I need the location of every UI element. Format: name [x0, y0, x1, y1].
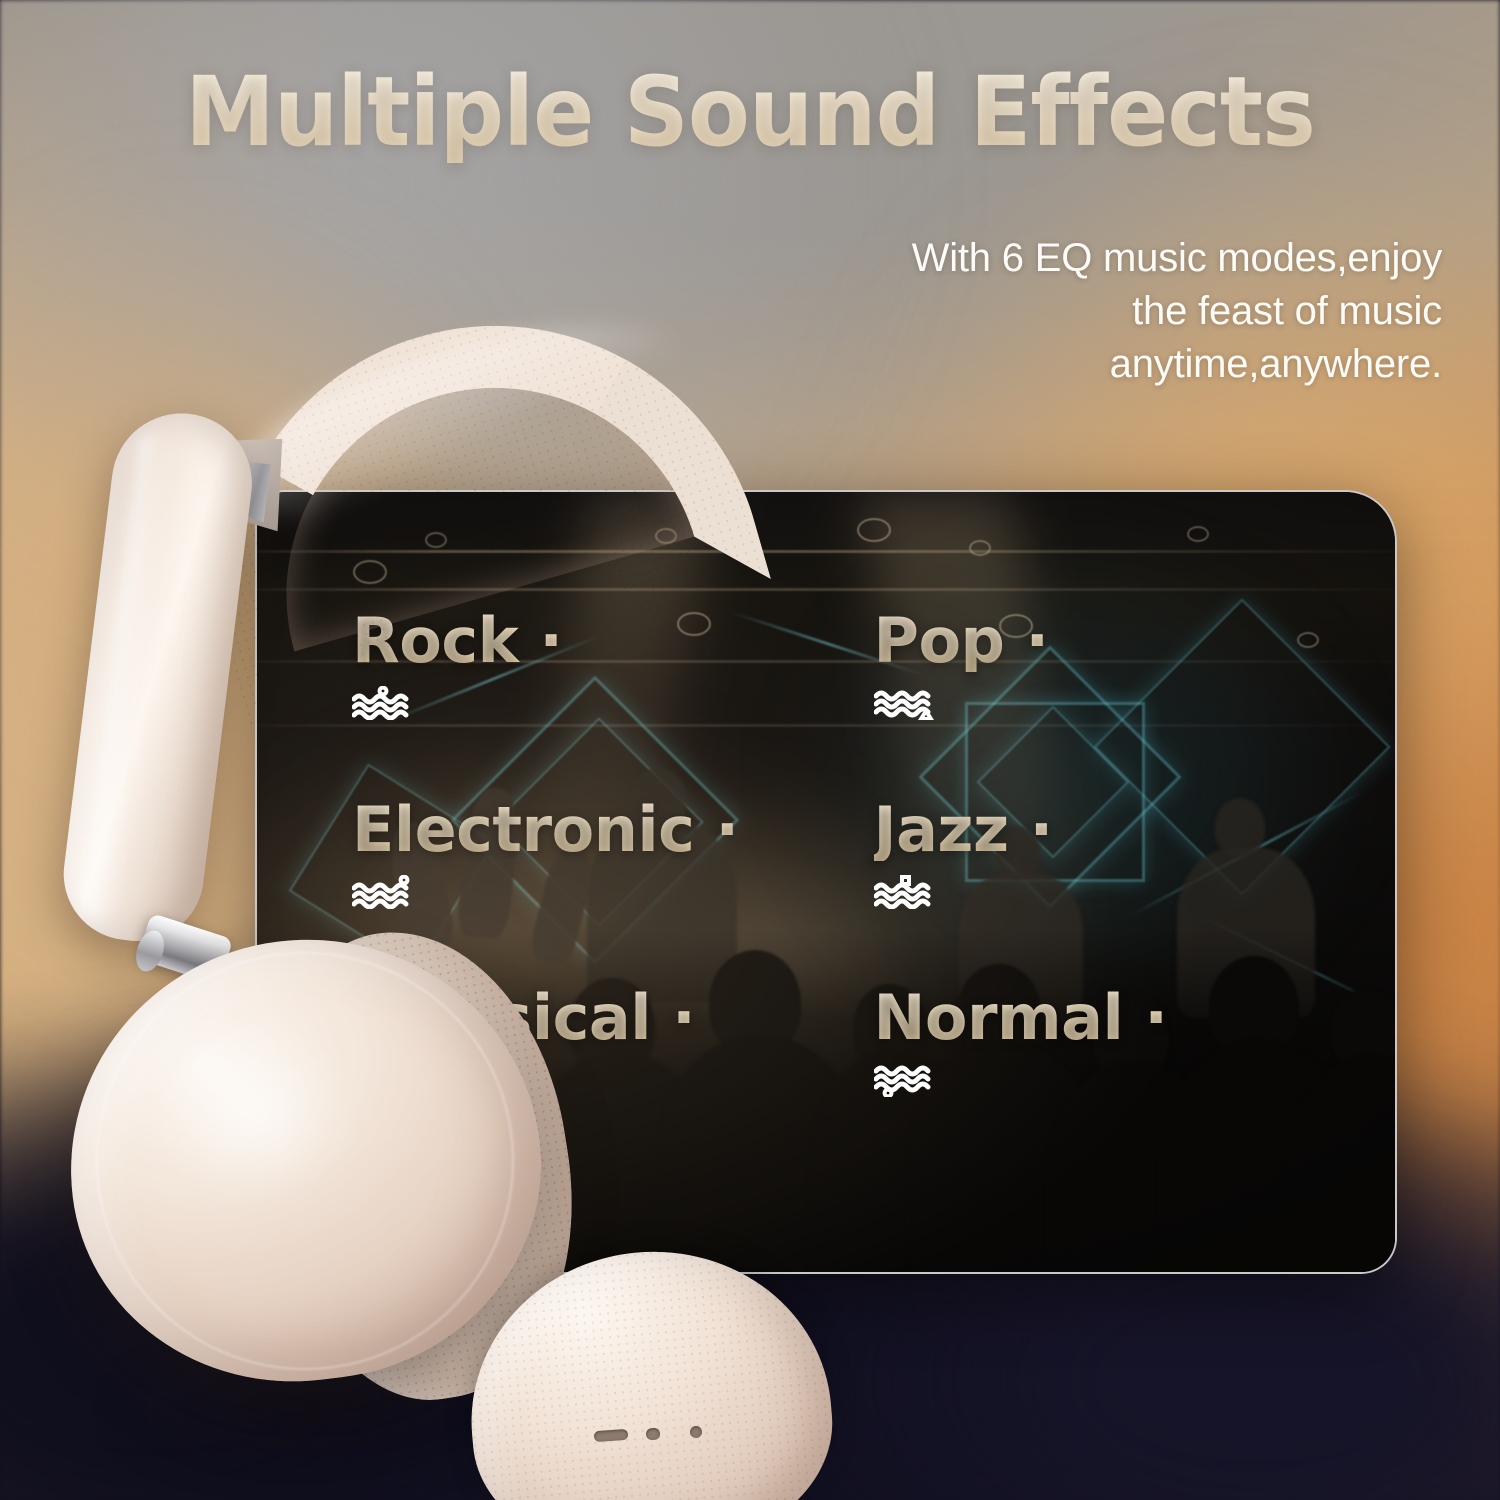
earcup-port: [594, 1429, 629, 1442]
product-feature-image: Multiple Sound Effects With 6 EQ music m…: [0, 0, 1500, 1500]
eq-mode-pop[interactable]: Pop ·: [874, 610, 1356, 799]
subtitle-line-2: the feast of music anytime,anywhere.: [842, 285, 1442, 391]
eq-mode-jazz[interactable]: Jazz ·: [874, 799, 1356, 988]
sound-wave-icon: [874, 875, 936, 909]
sound-wave-icon: [874, 1063, 936, 1097]
sound-wave-icon: [874, 686, 936, 720]
eq-mode-label: Normal ·: [874, 987, 1356, 1049]
subtitle: With 6 EQ music modes,enjoy the feast of…: [842, 232, 1442, 390]
subtitle-line-1: With 6 EQ music modes,enjoy: [842, 232, 1442, 285]
headphones-product-image: [0, 0, 760, 1500]
eq-mode-label: Jazz ·: [874, 799, 1356, 861]
eq-mode-label: Pop ·: [874, 610, 1356, 672]
eq-mode-normal[interactable]: Normal ·: [874, 987, 1356, 1176]
